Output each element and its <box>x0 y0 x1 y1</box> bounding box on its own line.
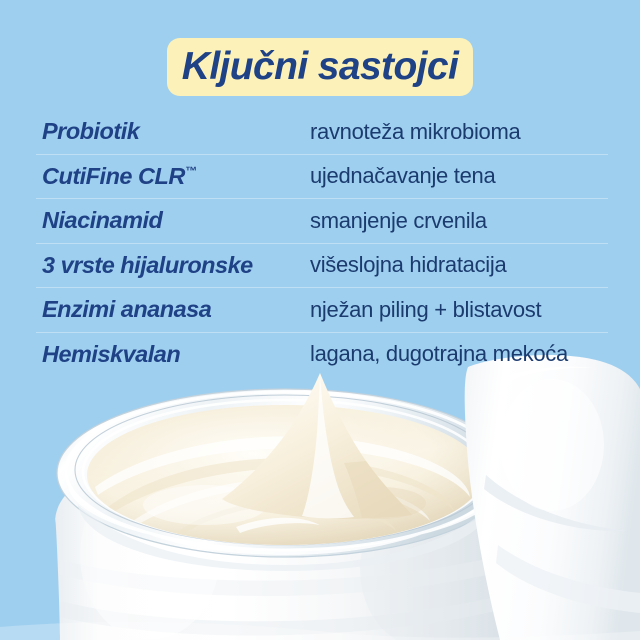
table-row: Probiotik ravnoteža mikrobioma <box>36 110 608 155</box>
ingredient-name: 3 vrste hijaluronske <box>36 254 310 278</box>
ingredient-name-text: CutiFine CLR <box>42 163 185 189</box>
promo-graphic: Ključni sastojci Probiotik ravnoteža mik… <box>0 0 640 640</box>
jar-lid <box>465 355 640 640</box>
title-badge: Ključni sastojci <box>167 38 473 96</box>
ingredient-name-text: Probiotik <box>42 118 139 144</box>
ingredient-benefit: smanjenje crvenila <box>310 210 608 232</box>
page-title: Ključni sastojci <box>182 47 458 86</box>
ingredient-name: Hemiskvalan <box>36 343 310 367</box>
ingredient-name-text: 3 vrste hijaluronske <box>42 252 253 278</box>
table-row: Hemiskvalan lagana, dugotrajna mekoća <box>36 333 608 377</box>
ingredient-benefit: nježan piling + blistavost <box>310 299 608 321</box>
cream-jar-illustration <box>0 355 640 640</box>
ingredient-benefit: ujednačavanje tena <box>310 165 608 187</box>
ingredient-name: Probiotik <box>36 120 310 144</box>
product-photo <box>0 355 640 640</box>
ingredient-benefit: lagana, dugotrajna mekoća <box>310 343 608 365</box>
ingredients-table: Probiotik ravnoteža mikrobioma CutiFine … <box>36 110 608 376</box>
ingredient-name: Niacinamid <box>36 209 310 233</box>
ingredient-benefit: višeslojna hidratacija <box>310 254 608 276</box>
ingredient-benefit: ravnoteža mikrobioma <box>310 121 608 143</box>
ingredient-name-text: Enzimi ananasa <box>42 296 211 322</box>
ingredient-name: CutiFine CLR™ <box>36 165 310 189</box>
ingredient-name-text: Hemiskvalan <box>42 341 180 367</box>
ingredient-name: Enzimi ananasa <box>36 298 310 322</box>
ingredient-name-text: Niacinamid <box>42 207 162 233</box>
table-row: Enzimi ananasa nježan piling + blistavos… <box>36 288 608 333</box>
trademark-symbol: ™ <box>185 164 197 178</box>
table-row: 3 vrste hijaluronske višeslojna hidratac… <box>36 244 608 289</box>
table-row: Niacinamid smanjenje crvenila <box>36 199 608 244</box>
table-row: CutiFine CLR™ ujednačavanje tena <box>36 155 608 200</box>
